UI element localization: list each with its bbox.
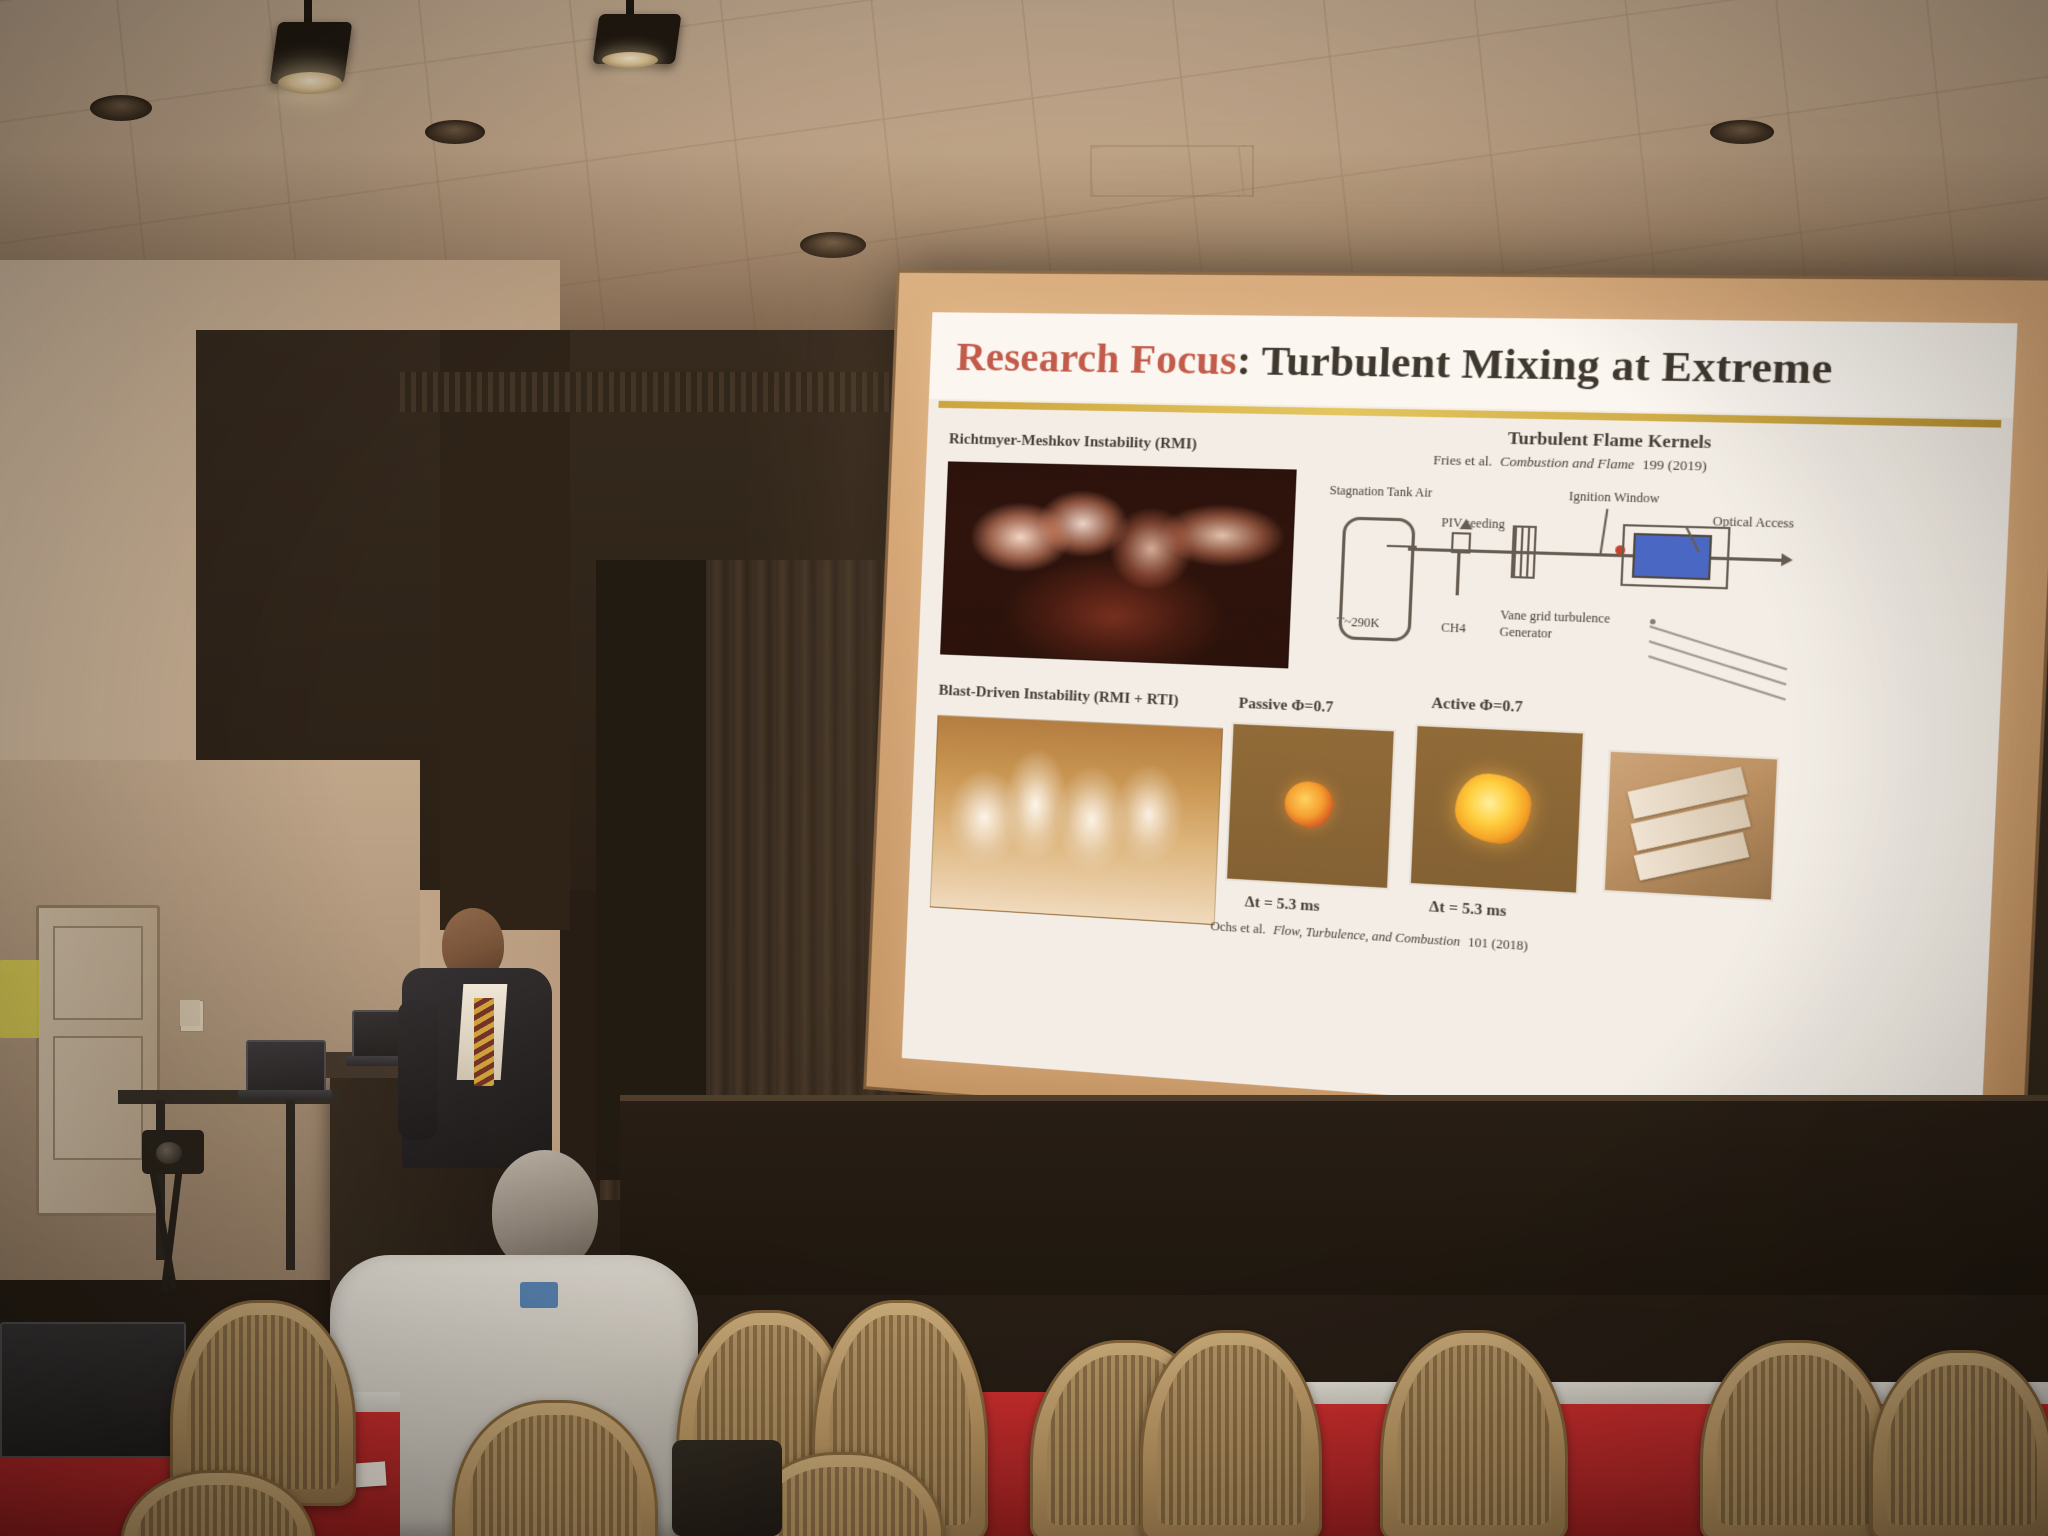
blast-driven-instability-image [930,715,1223,926]
bdi-panel-label: Blast-Driven Instability (RMI + RTI) [938,683,1179,711]
stage-edge-highlight [620,1095,2048,1101]
attendee-lanyard [520,1282,558,1308]
page-title: Research Focus: Turbulent Mixing at Extr… [955,332,1833,395]
presentation-photo: Research Focus: Turbulent Mixing at Extr… [0,0,2048,1536]
bag-on-floor [672,1440,782,1536]
rmi-panel-label: Richtmyer-Meshkov Instability (RMI) [949,431,1198,454]
ceiling-downlight [90,95,152,121]
presenter-arm [398,1000,438,1140]
schematic-label-piv-seeding: PIV seeding [1441,515,1505,533]
schematic-label-generator: Generator [1499,624,1552,642]
side-table-leg [286,1100,295,1270]
stagnation-tank [1338,516,1416,641]
ceiling-downlight [800,232,866,258]
chair-back [1700,1340,1892,1536]
schematic-exitline [1725,557,1784,562]
laptop-screen [246,1040,326,1096]
presenter-tie [474,998,494,1086]
slide-body: Richtmyer-Meshkov Instability (RMI) Blas… [902,413,2013,1140]
flame-kernels-heading: Turbulent Flame Kernels [1507,428,1711,453]
stage-front-panel [620,1095,2048,1295]
footer-citation-volume: 101 (2018) [1468,935,1529,954]
ignition-window-pointer [1599,509,1608,556]
active-flame-kernel [1454,772,1533,845]
chair-back [1380,1330,1568,1536]
wall-placard [0,960,40,1038]
flow-arrow-icon [1781,553,1793,566]
presentation-slide: Research Focus: Turbulent Mixing at Extr… [902,312,2018,1140]
grid-plate-marker [1650,619,1656,625]
passive-flame-kernel [1284,780,1334,828]
active-kernel-image [1409,724,1586,895]
slide-title-rest: : Turbulent Mixing at Extreme [1236,336,1834,393]
experimental-hardware-photo [1603,750,1780,902]
chair-back [1140,1330,1322,1536]
chair-back-slats [1887,1365,2037,1525]
passive-kernel-label: Passive Φ=0.7 [1238,695,1333,717]
projection-screen: Research Focus: Turbulent Mixing at Extr… [863,270,2048,1181]
passive-delta-t: Δt = 5.3 ms [1244,894,1319,916]
laptop-base [238,1090,332,1100]
piv-seeder [1451,532,1471,554]
door-panel [53,926,143,1020]
active-kernel-label: Active Φ=0.7 [1431,695,1523,717]
chair-back-slats [1397,1345,1551,1525]
schematic-label-stagnation-tank: Stagnation Tank Air [1329,483,1432,501]
laptop-screen [0,1322,186,1458]
chair-back-slats [137,1485,299,1536]
chair-back-slats [469,1415,641,1536]
schematic-label-ignition-window: Ignition Window [1569,489,1660,507]
wall-molding [400,372,920,412]
flame-kernel-schematic: Stagnation Tank Air Ignition Window Opti… [1326,456,1982,690]
ceiling-downlight [425,120,485,144]
test-section [1620,524,1730,589]
footer-citation-journal: Flow, Turbulence, and Combustion [1273,923,1461,949]
chair-back [1870,1350,2048,1536]
doorway-recess [596,560,706,1180]
footer-citation-author: Ochs et al. [1210,919,1266,937]
attendee-head [492,1150,598,1272]
fire-alarm [180,1000,200,1026]
camera-lens-icon [156,1142,182,1164]
chair-back-slats [187,1315,339,1489]
slide-title-bar: Research Focus: Turbulent Mixing at Extr… [929,312,2018,418]
schematic-branchline [1456,549,1461,595]
schematic-label-ch4: CH4 [1441,620,1466,637]
proscenium-column [440,330,570,930]
chair-back-slats [759,1467,927,1536]
active-delta-t: Δt = 5.3 ms [1429,899,1507,921]
flow-arrow-icon [1459,519,1472,530]
rmi-simulation-image [940,461,1297,668]
slide-title-highlight: Research Focus [955,333,1238,384]
vane-grid-turbulence-generator [1511,525,1537,579]
ceiling-vent [1090,145,1254,197]
ceiling-downlight [1710,120,1774,144]
passive-kernel-image [1225,722,1396,890]
footer-citation: Ochs et al. Flow, Turbulence, and Combus… [1210,919,1528,955]
chair-back-slats [1717,1355,1875,1525]
chair-back-slats [1157,1345,1305,1525]
